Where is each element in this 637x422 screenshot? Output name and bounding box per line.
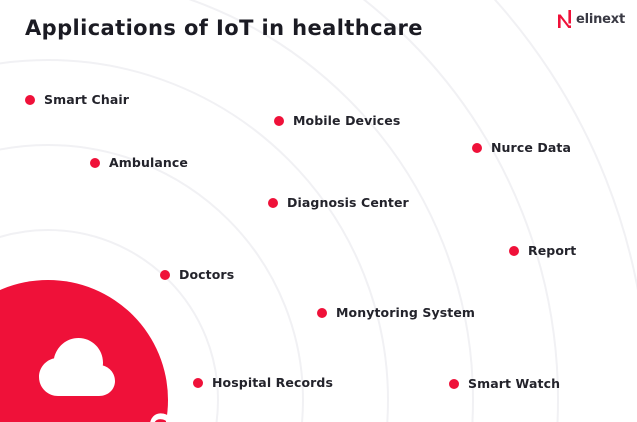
node-dot-icon xyxy=(160,270,170,280)
node-smart-watch[interactable]: Smart Watch xyxy=(449,376,560,391)
node-dot-icon xyxy=(274,116,284,126)
node-monytoring-system[interactable]: Monytoring System xyxy=(317,305,475,320)
node-mobile-devices[interactable]: Mobile Devices xyxy=(274,113,400,128)
node-label: Ambulance xyxy=(109,155,188,170)
node-doctors[interactable]: Doctors xyxy=(160,267,234,282)
brand-logo[interactable]: elinext xyxy=(558,10,625,28)
node-label: Doctors xyxy=(179,267,234,282)
node-dot-icon xyxy=(90,158,100,168)
node-diagnosis-center[interactable]: Diagnosis Center xyxy=(268,195,409,210)
node-label: Monytoring System xyxy=(336,305,475,320)
elinext-n-mark-icon xyxy=(558,10,571,28)
node-label: Mobile Devices xyxy=(293,113,400,128)
node-label: Hospital Records xyxy=(212,375,333,390)
node-dot-icon xyxy=(268,198,278,208)
svg-text:Cloud: Cloud xyxy=(95,408,168,422)
node-label: Smart Watch xyxy=(468,376,560,391)
node-hospital-records[interactable]: Hospital Records xyxy=(193,375,333,390)
node-report[interactable]: Report xyxy=(509,243,576,258)
node-smart-chair[interactable]: Smart Chair xyxy=(25,92,129,107)
infographic-canvas: Applications of IoT in healthcare elinex… xyxy=(0,0,637,422)
node-dot-icon xyxy=(193,378,203,388)
cloud-hub: Cloud xyxy=(0,280,168,422)
node-dot-icon xyxy=(449,379,459,389)
node-ambulance[interactable]: Ambulance xyxy=(90,155,188,170)
cloud-hub-wordmark: Cloud xyxy=(0,280,168,422)
page-title: Applications of IoT in healthcare xyxy=(25,16,423,40)
node-nurce-data[interactable]: Nurce Data xyxy=(472,140,571,155)
brand-logo-text: elinext xyxy=(576,12,625,27)
cloud-hub-label: Cloud xyxy=(95,408,168,422)
node-dot-icon xyxy=(317,308,327,318)
node-label: Report xyxy=(528,243,576,258)
node-dot-icon xyxy=(472,143,482,153)
node-dot-icon xyxy=(25,95,35,105)
node-label: Smart Chair xyxy=(44,92,129,107)
node-label: Nurce Data xyxy=(491,140,571,155)
node-dot-icon xyxy=(509,246,519,256)
node-label: Diagnosis Center xyxy=(287,195,409,210)
